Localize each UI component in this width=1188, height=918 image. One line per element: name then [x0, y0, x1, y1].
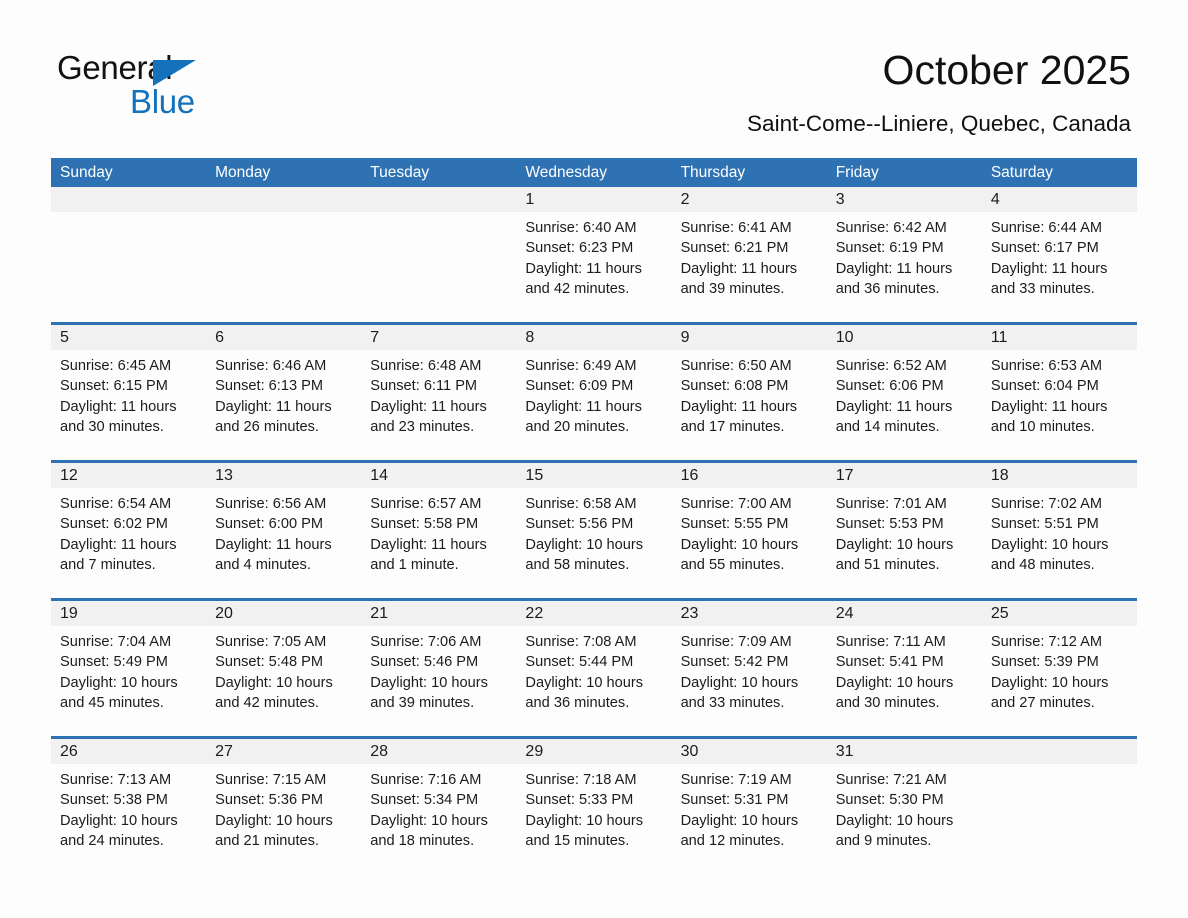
day-info-line: Sunset: 5:56 PM: [525, 514, 662, 534]
day-number: 6: [206, 325, 361, 350]
day-info-line: and 51 minutes.: [836, 555, 973, 575]
day-sun-info: Sunrise: 6:50 AMSunset: 6:08 PMDaylight:…: [672, 350, 827, 439]
day-info-line: Daylight: 10 hours: [525, 673, 662, 693]
page-header: General Blue October 2025 Saint-Come--Li…: [0, 0, 1188, 112]
day-info-line: Daylight: 11 hours: [60, 535, 197, 555]
calendar-day-cell-22[interactable]: 22Sunrise: 7:08 AMSunset: 5:44 PMDayligh…: [516, 601, 671, 715]
day-info-line: and 4 minutes.: [215, 555, 352, 575]
day-info-line: Sunrise: 6:49 AM: [525, 356, 662, 376]
calendar-day-cell-24[interactable]: 24Sunrise: 7:11 AMSunset: 5:41 PMDayligh…: [827, 601, 982, 715]
day-info-line: Daylight: 11 hours: [991, 397, 1128, 417]
day-number: [51, 187, 206, 212]
calendar-day-cell-30[interactable]: 30Sunrise: 7:19 AMSunset: 5:31 PMDayligh…: [672, 739, 827, 853]
day-info-line: Sunset: 5:48 PM: [215, 652, 352, 672]
calendar-week-row: 12Sunrise: 6:54 AMSunset: 6:02 PMDayligh…: [51, 460, 1137, 577]
day-info-line: and 42 minutes.: [525, 279, 662, 299]
day-info-line: and 21 minutes.: [215, 831, 352, 851]
week-cells: 19Sunrise: 7:04 AMSunset: 5:49 PMDayligh…: [51, 601, 1137, 715]
week-spacer: [51, 715, 1137, 736]
day-number: [982, 739, 1137, 764]
calendar-day-cell-27[interactable]: 27Sunrise: 7:15 AMSunset: 5:36 PMDayligh…: [206, 739, 361, 853]
day-sun-info: Sunrise: 7:08 AMSunset: 5:44 PMDaylight:…: [516, 626, 671, 715]
day-info-line: Daylight: 10 hours: [525, 811, 662, 831]
day-info-line: Sunset: 5:44 PM: [525, 652, 662, 672]
weekday-header-monday: Monday: [206, 158, 361, 187]
day-number: [361, 187, 516, 212]
day-info-line: and 9 minutes.: [836, 831, 973, 851]
general-blue-logo: General Blue: [57, 50, 377, 122]
day-info-line: Sunrise: 6:42 AM: [836, 218, 973, 238]
day-info-line: and 14 minutes.: [836, 417, 973, 437]
day-sun-info: Sunrise: 7:16 AMSunset: 5:34 PMDaylight:…: [361, 764, 516, 853]
day-info-line: Sunset: 5:39 PM: [991, 652, 1128, 672]
day-info-line: Sunset: 5:38 PM: [60, 790, 197, 810]
day-info-line: Sunset: 6:06 PM: [836, 376, 973, 396]
page-subtitle-location: Saint-Come--Liniere, Quebec, Canada: [747, 110, 1131, 138]
day-number: 31: [827, 739, 982, 764]
calendar-week-row: 19Sunrise: 7:04 AMSunset: 5:49 PMDayligh…: [51, 598, 1137, 715]
day-info-line: Sunset: 5:36 PM: [215, 790, 352, 810]
day-info-line: Sunrise: 6:45 AM: [60, 356, 197, 376]
day-number: 20: [206, 601, 361, 626]
day-info-line: Sunrise: 6:57 AM: [370, 494, 507, 514]
day-info-line: Sunset: 6:02 PM: [60, 514, 197, 534]
calendar-day-cell-15[interactable]: 15Sunrise: 6:58 AMSunset: 5:56 PMDayligh…: [516, 463, 671, 577]
day-info-line: Sunrise: 7:12 AM: [991, 632, 1128, 652]
day-info-line: Sunrise: 6:40 AM: [525, 218, 662, 238]
day-sun-info: Sunrise: 7:21 AMSunset: 5:30 PMDaylight:…: [827, 764, 982, 853]
day-sun-info: Sunrise: 6:46 AMSunset: 6:13 PMDaylight:…: [206, 350, 361, 439]
day-info-line: and 36 minutes.: [836, 279, 973, 299]
day-info-line: Daylight: 10 hours: [681, 673, 818, 693]
day-info-line: and 23 minutes.: [370, 417, 507, 437]
day-info-line: and 20 minutes.: [525, 417, 662, 437]
day-info-line: Sunrise: 7:19 AM: [681, 770, 818, 790]
day-number: 11: [982, 325, 1137, 350]
day-info-line: Sunrise: 7:05 AM: [215, 632, 352, 652]
day-info-line: Sunrise: 7:09 AM: [681, 632, 818, 652]
day-info-line: Sunset: 5:46 PM: [370, 652, 507, 672]
day-info-line: Sunrise: 7:21 AM: [836, 770, 973, 790]
day-info-line: and 39 minutes.: [370, 693, 507, 713]
day-info-line: Sunrise: 7:16 AM: [370, 770, 507, 790]
day-info-line: Sunrise: 7:08 AM: [525, 632, 662, 652]
day-info-line: and 42 minutes.: [215, 693, 352, 713]
day-number: 16: [672, 463, 827, 488]
week-cells: 1Sunrise: 6:40 AMSunset: 6:23 PMDaylight…: [51, 187, 1137, 301]
day-info-line: Daylight: 10 hours: [370, 673, 507, 693]
day-info-line: Daylight: 11 hours: [991, 259, 1128, 279]
day-number: 28: [361, 739, 516, 764]
day-number: 21: [361, 601, 516, 626]
calendar-day-cell-14[interactable]: 14Sunrise: 6:57 AMSunset: 5:58 PMDayligh…: [361, 463, 516, 577]
day-number: 13: [206, 463, 361, 488]
calendar-day-cell-12[interactable]: 12Sunrise: 6:54 AMSunset: 6:02 PMDayligh…: [51, 463, 206, 577]
day-sun-info: Sunrise: 6:52 AMSunset: 6:06 PMDaylight:…: [827, 350, 982, 439]
day-info-line: Daylight: 10 hours: [215, 673, 352, 693]
calendar-day-cell-1[interactable]: 1Sunrise: 6:40 AMSunset: 6:23 PMDaylight…: [516, 187, 671, 301]
calendar-page: General Blue October 2025 Saint-Come--Li…: [0, 0, 1188, 918]
day-number: 7: [361, 325, 516, 350]
calendar-day-cell-11[interactable]: 11Sunrise: 6:53 AMSunset: 6:04 PMDayligh…: [982, 325, 1137, 439]
day-sun-info: Sunrise: 7:00 AMSunset: 5:55 PMDaylight:…: [672, 488, 827, 577]
calendar-day-cell-empty: [206, 187, 361, 301]
day-info-line: Daylight: 10 hours: [836, 673, 973, 693]
day-sun-info: Sunrise: 6:44 AMSunset: 6:17 PMDaylight:…: [982, 212, 1137, 301]
day-info-line: Sunrise: 6:44 AM: [991, 218, 1128, 238]
day-number: 27: [206, 739, 361, 764]
day-number: 23: [672, 601, 827, 626]
day-info-line: Sunset: 6:19 PM: [836, 238, 973, 258]
day-info-line: Sunrise: 6:54 AM: [60, 494, 197, 514]
day-number: 8: [516, 325, 671, 350]
day-sun-info: Sunrise: 7:06 AMSunset: 5:46 PMDaylight:…: [361, 626, 516, 715]
day-info-line: Daylight: 10 hours: [681, 535, 818, 555]
calendar-day-cell-6[interactable]: 6Sunrise: 6:46 AMSunset: 6:13 PMDaylight…: [206, 325, 361, 439]
day-info-line: Sunrise: 7:02 AM: [991, 494, 1128, 514]
day-info-line: Daylight: 10 hours: [215, 811, 352, 831]
day-number: 14: [361, 463, 516, 488]
day-sun-info: Sunrise: 7:19 AMSunset: 5:31 PMDaylight:…: [672, 764, 827, 853]
day-number: 30: [672, 739, 827, 764]
day-info-line: and 10 minutes.: [991, 417, 1128, 437]
day-number: 24: [827, 601, 982, 626]
logo-text-blue: Blue: [130, 84, 195, 120]
day-info-line: Sunrise: 6:41 AM: [681, 218, 818, 238]
day-number: 5: [51, 325, 206, 350]
calendar-day-cell-28[interactable]: 28Sunrise: 7:16 AMSunset: 5:34 PMDayligh…: [361, 739, 516, 853]
day-sun-info: Sunrise: 6:45 AMSunset: 6:15 PMDaylight:…: [51, 350, 206, 439]
calendar-day-cell-10[interactable]: 10Sunrise: 6:52 AMSunset: 6:06 PMDayligh…: [827, 325, 982, 439]
day-number: 18: [982, 463, 1137, 488]
day-sun-info: Sunrise: 7:05 AMSunset: 5:48 PMDaylight:…: [206, 626, 361, 715]
day-info-line: Sunset: 5:51 PM: [991, 514, 1128, 534]
day-info-line: Sunrise: 6:50 AM: [681, 356, 818, 376]
week-spacer: [51, 577, 1137, 598]
day-info-line: Sunset: 5:41 PM: [836, 652, 973, 672]
calendar-day-cell-25[interactable]: 25Sunrise: 7:12 AMSunset: 5:39 PMDayligh…: [982, 601, 1137, 715]
day-info-line: and 27 minutes.: [991, 693, 1128, 713]
day-sun-info: [51, 212, 206, 301]
calendar-day-cell-5[interactable]: 5Sunrise: 6:45 AMSunset: 6:15 PMDaylight…: [51, 325, 206, 439]
calendar-day-cell-20[interactable]: 20Sunrise: 7:05 AMSunset: 5:48 PMDayligh…: [206, 601, 361, 715]
week-spacer: [51, 439, 1137, 460]
week-cells: 12Sunrise: 6:54 AMSunset: 6:02 PMDayligh…: [51, 463, 1137, 577]
day-info-line: Daylight: 10 hours: [991, 673, 1128, 693]
weekday-header-wednesday: Wednesday: [516, 158, 671, 187]
day-info-line: Sunrise: 6:53 AM: [991, 356, 1128, 376]
calendar-day-cell-26[interactable]: 26Sunrise: 7:13 AMSunset: 5:38 PMDayligh…: [51, 739, 206, 853]
day-info-line: and 24 minutes.: [60, 831, 197, 851]
day-number: 17: [827, 463, 982, 488]
day-info-line: and 33 minutes.: [681, 693, 818, 713]
day-info-line: Daylight: 11 hours: [370, 535, 507, 555]
day-info-line: Sunrise: 7:04 AM: [60, 632, 197, 652]
day-sun-info: Sunrise: 6:53 AMSunset: 6:04 PMDaylight:…: [982, 350, 1137, 439]
day-info-line: and 30 minutes.: [836, 693, 973, 713]
day-info-line: Daylight: 10 hours: [681, 811, 818, 831]
day-sun-info: Sunrise: 6:57 AMSunset: 5:58 PMDaylight:…: [361, 488, 516, 577]
calendar-week-row: 26Sunrise: 7:13 AMSunset: 5:38 PMDayligh…: [51, 736, 1137, 853]
day-info-line: Sunset: 6:17 PM: [991, 238, 1128, 258]
day-info-line: Daylight: 10 hours: [836, 535, 973, 555]
day-info-line: Sunrise: 7:06 AM: [370, 632, 507, 652]
weekday-header-row: SundayMondayTuesdayWednesdayThursdayFrid…: [51, 158, 1137, 187]
day-sun-info: [206, 212, 361, 301]
day-info-line: and 30 minutes.: [60, 417, 197, 437]
day-info-line: Daylight: 11 hours: [836, 259, 973, 279]
calendar-day-cell-4[interactable]: 4Sunrise: 6:44 AMSunset: 6:17 PMDaylight…: [982, 187, 1137, 301]
calendar-day-cell-empty: [51, 187, 206, 301]
day-sun-info: Sunrise: 6:42 AMSunset: 6:19 PMDaylight:…: [827, 212, 982, 301]
day-sun-info: Sunrise: 6:56 AMSunset: 6:00 PMDaylight:…: [206, 488, 361, 577]
day-number: 3: [827, 187, 982, 212]
day-info-line: Sunset: 5:34 PM: [370, 790, 507, 810]
day-sun-info: Sunrise: 6:58 AMSunset: 5:56 PMDaylight:…: [516, 488, 671, 577]
day-info-line: and 1 minute.: [370, 555, 507, 575]
calendar-day-cell-empty: [361, 187, 516, 301]
day-info-line: Daylight: 10 hours: [836, 811, 973, 831]
day-number: 19: [51, 601, 206, 626]
day-sun-info: Sunrise: 7:09 AMSunset: 5:42 PMDaylight:…: [672, 626, 827, 715]
day-info-line: Sunset: 6:09 PM: [525, 376, 662, 396]
day-info-line: Sunrise: 6:48 AM: [370, 356, 507, 376]
day-sun-info: Sunrise: 6:49 AMSunset: 6:09 PMDaylight:…: [516, 350, 671, 439]
day-info-line: Sunset: 6:08 PM: [681, 376, 818, 396]
day-sun-info: Sunrise: 6:48 AMSunset: 6:11 PMDaylight:…: [361, 350, 516, 439]
day-info-line: Sunset: 5:49 PM: [60, 652, 197, 672]
day-info-line: Sunset: 6:11 PM: [370, 376, 507, 396]
day-sun-info: [361, 212, 516, 301]
day-info-line: and 39 minutes.: [681, 279, 818, 299]
day-info-line: and 48 minutes.: [991, 555, 1128, 575]
day-number: 26: [51, 739, 206, 764]
day-sun-info: Sunrise: 7:11 AMSunset: 5:41 PMDaylight:…: [827, 626, 982, 715]
day-info-line: Sunset: 5:31 PM: [681, 790, 818, 810]
day-sun-info: Sunrise: 6:54 AMSunset: 6:02 PMDaylight:…: [51, 488, 206, 577]
calendar-day-cell-7[interactable]: 7Sunrise: 6:48 AMSunset: 6:11 PMDaylight…: [361, 325, 516, 439]
day-info-line: Sunrise: 6:52 AM: [836, 356, 973, 376]
day-info-line: and 17 minutes.: [681, 417, 818, 437]
day-number: 10: [827, 325, 982, 350]
calendar-day-cell-29[interactable]: 29Sunrise: 7:18 AMSunset: 5:33 PMDayligh…: [516, 739, 671, 853]
weekday-header-friday: Friday: [827, 158, 982, 187]
day-number: [206, 187, 361, 212]
calendar-day-cell-23[interactable]: 23Sunrise: 7:09 AMSunset: 5:42 PMDayligh…: [672, 601, 827, 715]
day-info-line: Sunrise: 7:13 AM: [60, 770, 197, 790]
calendar-day-cell-16[interactable]: 16Sunrise: 7:00 AMSunset: 5:55 PMDayligh…: [672, 463, 827, 577]
day-number: 15: [516, 463, 671, 488]
day-info-line: Sunset: 6:15 PM: [60, 376, 197, 396]
day-info-line: Sunrise: 6:58 AM: [525, 494, 662, 514]
day-info-line: Sunset: 6:00 PM: [215, 514, 352, 534]
day-info-line: Daylight: 11 hours: [60, 397, 197, 417]
day-number: 9: [672, 325, 827, 350]
day-info-line: Sunset: 6:21 PM: [681, 238, 818, 258]
calendar-week-row: 1Sunrise: 6:40 AMSunset: 6:23 PMDaylight…: [51, 187, 1137, 301]
day-info-line: and 45 minutes.: [60, 693, 197, 713]
day-info-line: Sunset: 5:30 PM: [836, 790, 973, 810]
day-info-line: Daylight: 10 hours: [991, 535, 1128, 555]
week-cells: 26Sunrise: 7:13 AMSunset: 5:38 PMDayligh…: [51, 739, 1137, 853]
calendar-day-cell-31[interactable]: 31Sunrise: 7:21 AMSunset: 5:30 PMDayligh…: [827, 739, 982, 853]
calendar-day-cell-19[interactable]: 19Sunrise: 7:04 AMSunset: 5:49 PMDayligh…: [51, 601, 206, 715]
week-cells: 5Sunrise: 6:45 AMSunset: 6:15 PMDaylight…: [51, 325, 1137, 439]
day-info-line: Sunrise: 6:46 AM: [215, 356, 352, 376]
day-number: 4: [982, 187, 1137, 212]
calendar-day-cell-3[interactable]: 3Sunrise: 6:42 AMSunset: 6:19 PMDaylight…: [827, 187, 982, 301]
day-sun-info: Sunrise: 6:41 AMSunset: 6:21 PMDaylight:…: [672, 212, 827, 301]
calendar-day-cell-13[interactable]: 13Sunrise: 6:56 AMSunset: 6:00 PMDayligh…: [206, 463, 361, 577]
day-info-line: Sunrise: 7:01 AM: [836, 494, 973, 514]
day-number: 1: [516, 187, 671, 212]
day-info-line: and 33 minutes.: [991, 279, 1128, 299]
day-info-line: and 58 minutes.: [525, 555, 662, 575]
day-number: 29: [516, 739, 671, 764]
day-info-line: Daylight: 10 hours: [60, 811, 197, 831]
day-info-line: and 36 minutes.: [525, 693, 662, 713]
calendar-day-cell-empty: [982, 739, 1137, 853]
day-info-line: Sunset: 6:13 PM: [215, 376, 352, 396]
day-info-line: and 18 minutes.: [370, 831, 507, 851]
day-info-line: Daylight: 10 hours: [60, 673, 197, 693]
day-number: 25: [982, 601, 1137, 626]
day-info-line: Sunrise: 7:11 AM: [836, 632, 973, 652]
day-info-line: Daylight: 11 hours: [215, 397, 352, 417]
day-info-line: Daylight: 10 hours: [370, 811, 507, 831]
day-info-line: Sunset: 6:04 PM: [991, 376, 1128, 396]
weekday-header-saturday: Saturday: [982, 158, 1137, 187]
day-info-line: Daylight: 11 hours: [525, 259, 662, 279]
week-spacer: [51, 301, 1137, 322]
day-info-line: Sunset: 5:55 PM: [681, 514, 818, 534]
day-sun-info: [982, 764, 1137, 853]
weekday-header-thursday: Thursday: [672, 158, 827, 187]
day-info-line: Daylight: 11 hours: [525, 397, 662, 417]
day-sun-info: Sunrise: 7:01 AMSunset: 5:53 PMDaylight:…: [827, 488, 982, 577]
day-number: 22: [516, 601, 671, 626]
day-sun-info: Sunrise: 7:02 AMSunset: 5:51 PMDaylight:…: [982, 488, 1137, 577]
calendar-day-cell-8[interactable]: 8Sunrise: 6:49 AMSunset: 6:09 PMDaylight…: [516, 325, 671, 439]
day-info-line: and 12 minutes.: [681, 831, 818, 851]
day-info-line: Sunset: 5:58 PM: [370, 514, 507, 534]
calendar-weeks: 1Sunrise: 6:40 AMSunset: 6:23 PMDaylight…: [51, 187, 1137, 874]
day-info-line: Daylight: 11 hours: [215, 535, 352, 555]
month-calendar: SundayMondayTuesdayWednesdayThursdayFrid…: [51, 158, 1137, 874]
day-info-line: Daylight: 11 hours: [370, 397, 507, 417]
day-info-line: Sunset: 5:53 PM: [836, 514, 973, 534]
day-info-line: Sunset: 6:23 PM: [525, 238, 662, 258]
day-info-line: Daylight: 11 hours: [681, 397, 818, 417]
day-info-line: Sunset: 5:42 PM: [681, 652, 818, 672]
calendar-day-cell-17[interactable]: 17Sunrise: 7:01 AMSunset: 5:53 PMDayligh…: [827, 463, 982, 577]
calendar-day-cell-2[interactable]: 2Sunrise: 6:41 AMSunset: 6:21 PMDaylight…: [672, 187, 827, 301]
day-number: 2: [672, 187, 827, 212]
calendar-day-cell-21[interactable]: 21Sunrise: 7:06 AMSunset: 5:46 PMDayligh…: [361, 601, 516, 715]
day-info-line: Sunrise: 7:15 AM: [215, 770, 352, 790]
day-info-line: and 55 minutes.: [681, 555, 818, 575]
day-info-line: and 15 minutes.: [525, 831, 662, 851]
day-sun-info: Sunrise: 6:40 AMSunset: 6:23 PMDaylight:…: [516, 212, 671, 301]
week-spacer: [51, 853, 1137, 874]
weekday-header-sunday: Sunday: [51, 158, 206, 187]
logo-text-general: General: [57, 50, 377, 86]
day-info-line: Sunrise: 7:00 AM: [681, 494, 818, 514]
day-info-line: Sunrise: 7:18 AM: [525, 770, 662, 790]
calendar-week-row: 5Sunrise: 6:45 AMSunset: 6:15 PMDaylight…: [51, 322, 1137, 439]
day-sun-info: Sunrise: 7:12 AMSunset: 5:39 PMDaylight:…: [982, 626, 1137, 715]
day-sun-info: Sunrise: 7:13 AMSunset: 5:38 PMDaylight:…: [51, 764, 206, 853]
day-info-line: Daylight: 11 hours: [836, 397, 973, 417]
day-info-line: and 7 minutes.: [60, 555, 197, 575]
calendar-day-cell-9[interactable]: 9Sunrise: 6:50 AMSunset: 6:08 PMDaylight…: [672, 325, 827, 439]
calendar-day-cell-18[interactable]: 18Sunrise: 7:02 AMSunset: 5:51 PMDayligh…: [982, 463, 1137, 577]
day-sun-info: Sunrise: 7:15 AMSunset: 5:36 PMDaylight:…: [206, 764, 361, 853]
day-info-line: Sunrise: 6:56 AM: [215, 494, 352, 514]
day-info-line: and 26 minutes.: [215, 417, 352, 437]
page-title: October 2025: [883, 46, 1131, 94]
day-info-line: Sunset: 5:33 PM: [525, 790, 662, 810]
day-sun-info: Sunrise: 7:04 AMSunset: 5:49 PMDaylight:…: [51, 626, 206, 715]
day-info-line: Daylight: 11 hours: [681, 259, 818, 279]
day-sun-info: Sunrise: 7:18 AMSunset: 5:33 PMDaylight:…: [516, 764, 671, 853]
day-info-line: Daylight: 10 hours: [525, 535, 662, 555]
weekday-header-tuesday: Tuesday: [361, 158, 516, 187]
day-number: 12: [51, 463, 206, 488]
